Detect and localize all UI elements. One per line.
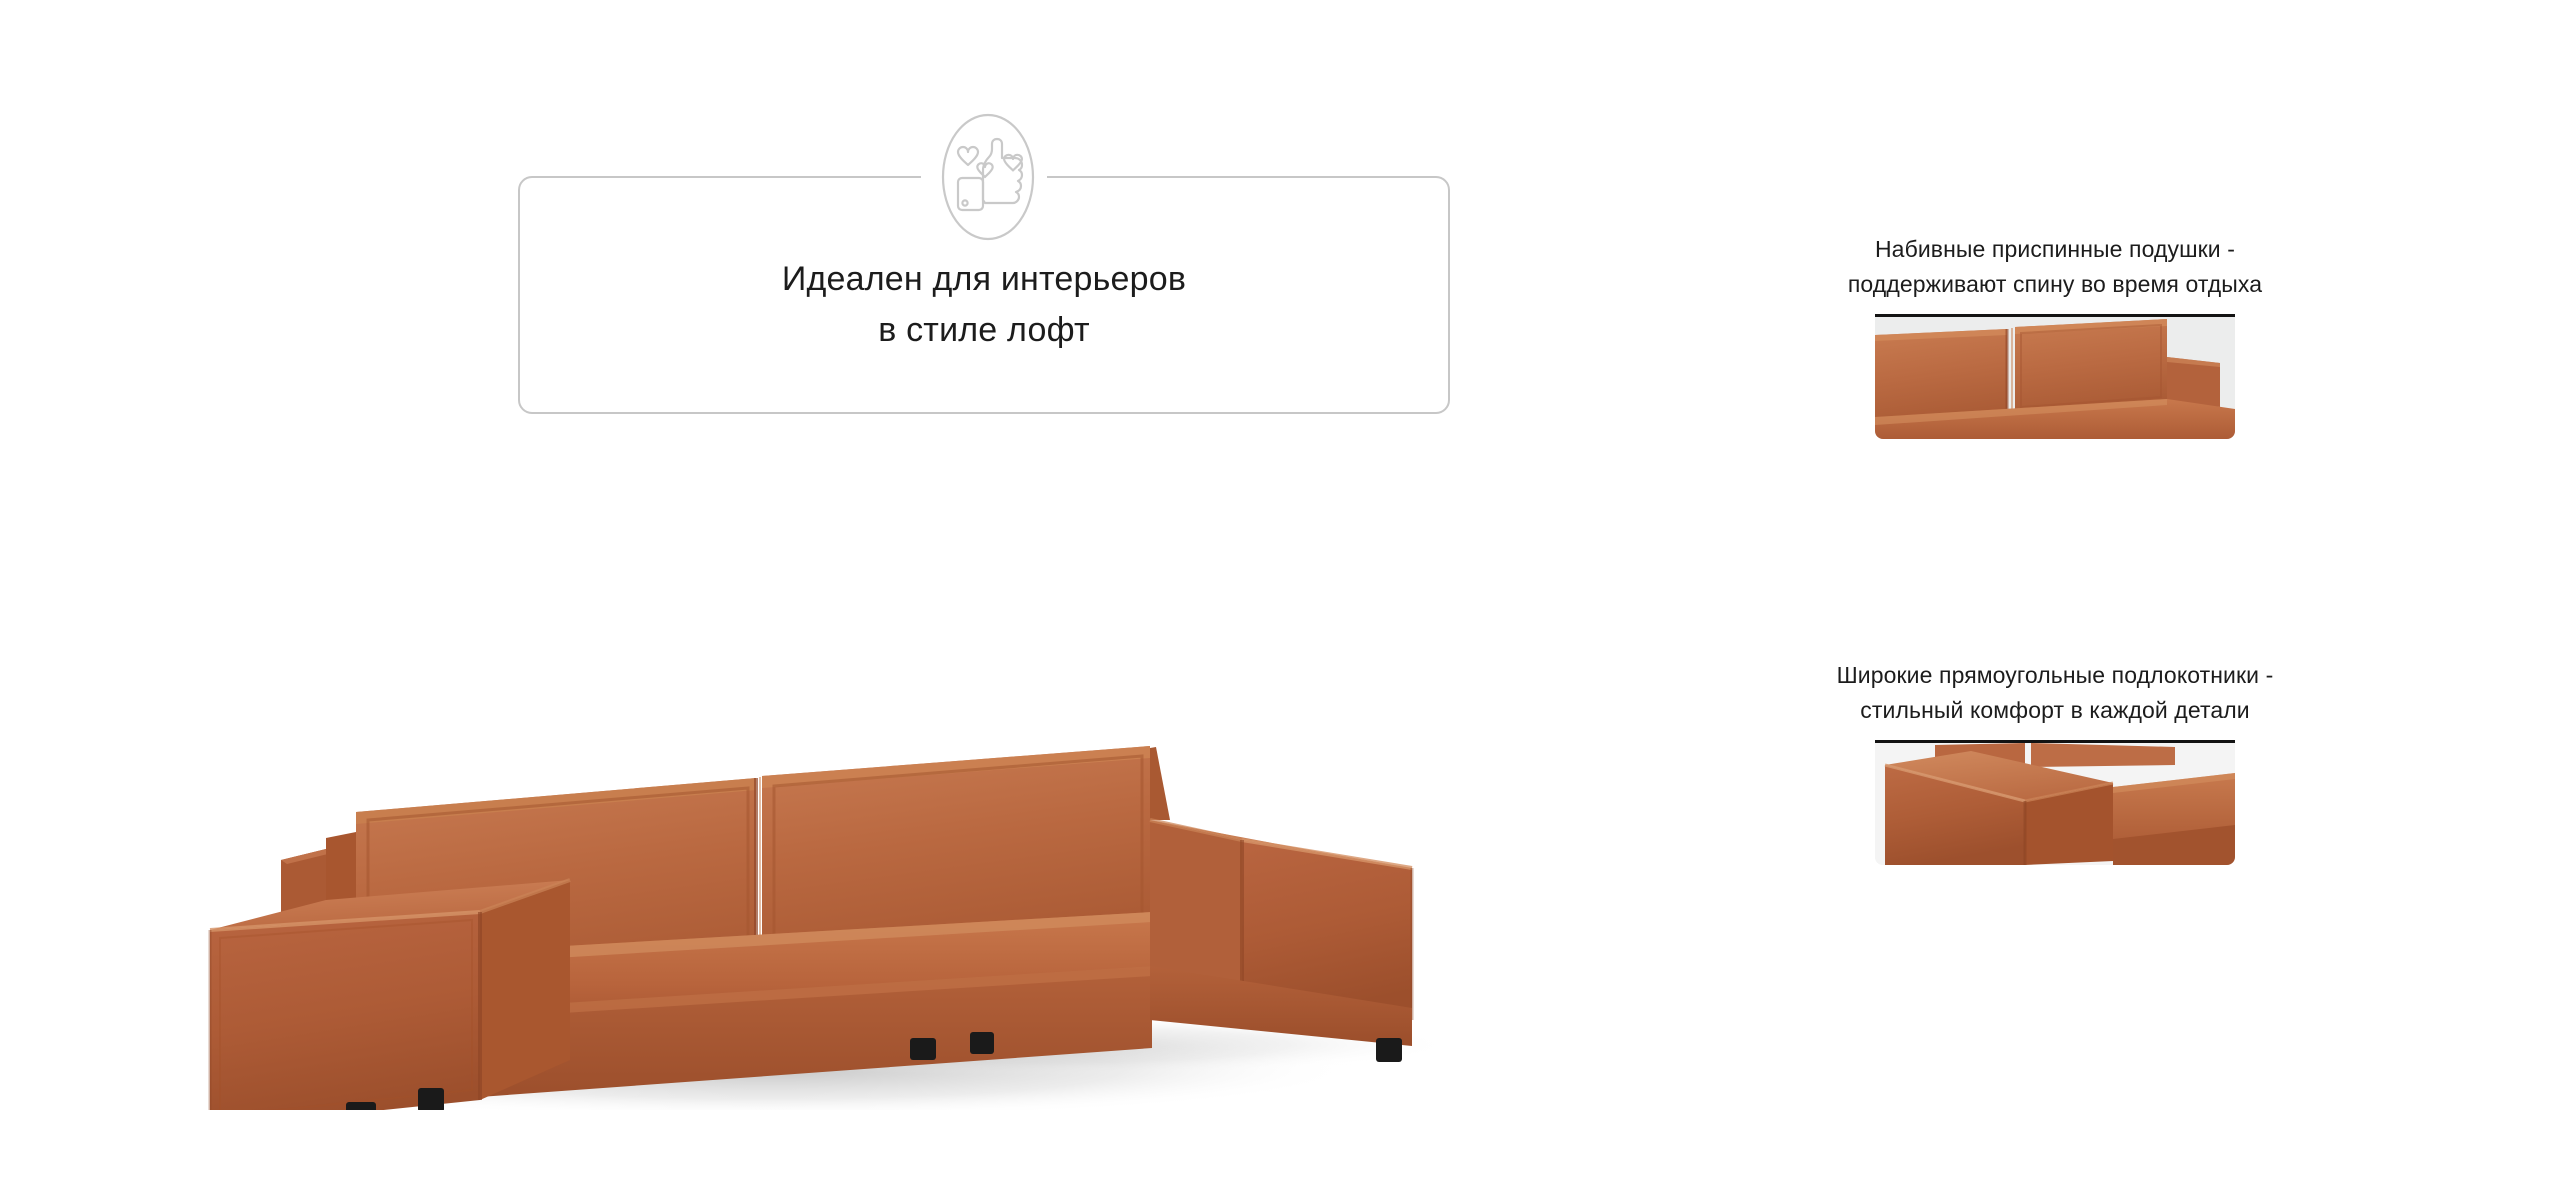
feature-thumbnail-armrest xyxy=(1875,743,2235,865)
feature-back-cushions: Набивные приспинные подушки - поддержива… xyxy=(1820,232,2290,439)
feature-caption: Широкие прямоугольные подлокотники - сти… xyxy=(1820,658,2290,728)
thumbs-up-hearts-icon xyxy=(927,104,1049,250)
feature-thumbnail-back-cushions xyxy=(1875,317,2235,439)
headline-text: Идеален для интерьеров в стиле лофт xyxy=(520,254,1448,356)
feature-armrests: Широкие прямоугольные подлокотники - сти… xyxy=(1820,658,2290,865)
feature-caption: Набивные приспинные подушки - поддержива… xyxy=(1820,232,2290,302)
promo-banner: Идеален для интерьеров в стиле лофт xyxy=(0,0,2560,1188)
sofa-hero-image xyxy=(150,460,1710,1110)
